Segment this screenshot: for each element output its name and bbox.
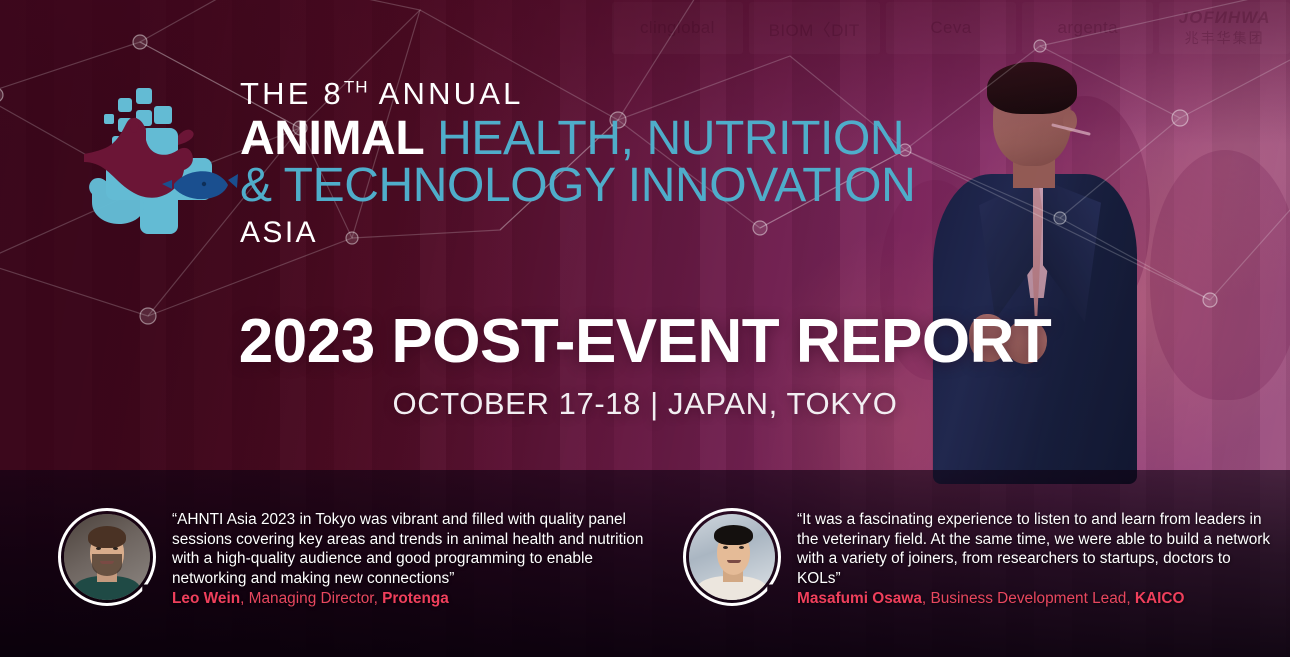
- testimonial-text: “It was a fascinating experience to list…: [797, 508, 1272, 657]
- testimonial-item: “AHNTI Asia 2023 in Tokyo was vibrant an…: [0, 470, 665, 657]
- report-title: 2023 POST-EVENT REPORT: [0, 306, 1290, 377]
- event-region: ASIA: [240, 216, 960, 250]
- title-bold-word: ANIMAL: [240, 112, 424, 165]
- testimonial-attribution: Masafumi Osawa, Business Development Lea…: [797, 589, 1272, 609]
- post-event-report-banner: clinglobal BIOM〈DIT Ceva argenta JOFИHWA…: [0, 0, 1290, 657]
- testimonial-attribution: Leo Wein, Managing Director, Protenga: [172, 589, 647, 609]
- testimonial-role: , Business Development Lead,: [922, 590, 1135, 607]
- testimonial-company: Protenga: [382, 590, 449, 607]
- report-subtitle: OCTOBER 17-18 | JAPAN, TOKYO: [0, 386, 1290, 422]
- title-rest: HEALTH, NUTRITION: [424, 112, 904, 165]
- avatar-masafumi-osawa: [683, 508, 781, 606]
- ahnti-asia-logo: [52, 76, 238, 276]
- testimonial-person: Leo Wein: [172, 590, 240, 607]
- testimonial-quote: “It was a fascinating experience to list…: [797, 510, 1272, 588]
- testimonial-person: Masafumi Osawa: [797, 590, 922, 607]
- testimonial-role: , Managing Director,: [240, 590, 382, 607]
- event-kicker: THE 8TH ANNUAL: [240, 78, 960, 111]
- kicker-ordinal: TH: [344, 78, 369, 97]
- event-title-line2: & TECHNOLOGY INNOVATION: [240, 162, 960, 210]
- event-title-line1: ANIMAL HEALTH, NUTRITION: [240, 115, 960, 163]
- testimonial-list: “AHNTI Asia 2023 in Tokyo was vibrant an…: [0, 470, 1290, 657]
- avatar-ring: [58, 508, 156, 606]
- kicker-suffix: ANNUAL: [369, 76, 524, 111]
- avatar-leo-wein: [58, 508, 156, 606]
- kicker-prefix: THE 8: [240, 76, 344, 111]
- testimonial-text: “AHNTI Asia 2023 in Tokyo was vibrant an…: [172, 508, 647, 657]
- event-headline-block: THE 8TH ANNUAL ANIMAL HEALTH, NUTRITION …: [240, 78, 960, 250]
- testimonial-item: “It was a fascinating experience to list…: [665, 470, 1290, 657]
- testimonial-company: KAICO: [1135, 590, 1185, 607]
- avatar-ring: [683, 508, 781, 606]
- testimonial-quote: “AHNTI Asia 2023 in Tokyo was vibrant an…: [172, 510, 647, 588]
